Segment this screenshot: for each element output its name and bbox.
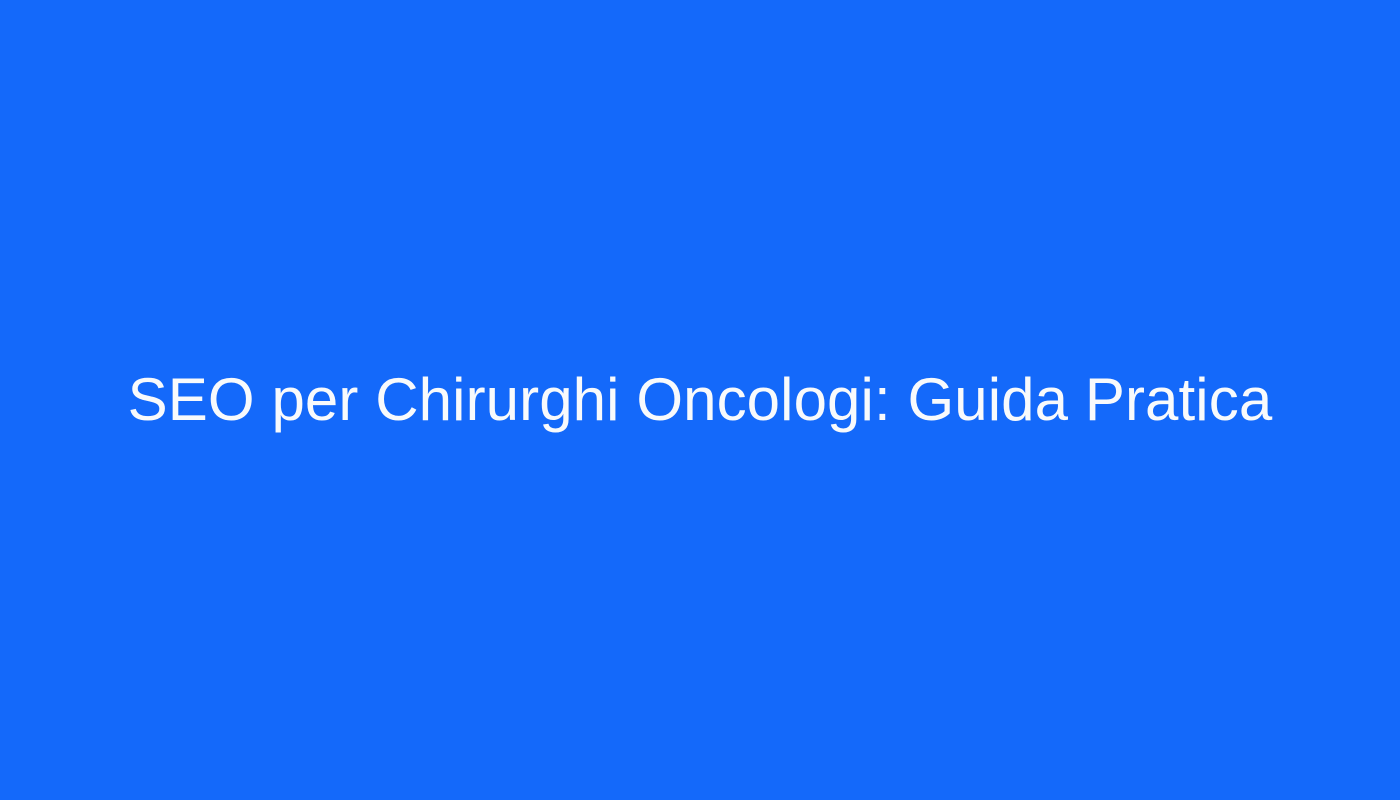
banner-content: SEO per Chirurghi Oncologi: Guida Pratic…	[60, 365, 1340, 436]
page-title: SEO per Chirurghi Oncologi: Guida Pratic…	[60, 365, 1340, 436]
share-card-banner: SEO per Chirurghi Oncologi: Guida Pratic…	[0, 0, 1400, 800]
